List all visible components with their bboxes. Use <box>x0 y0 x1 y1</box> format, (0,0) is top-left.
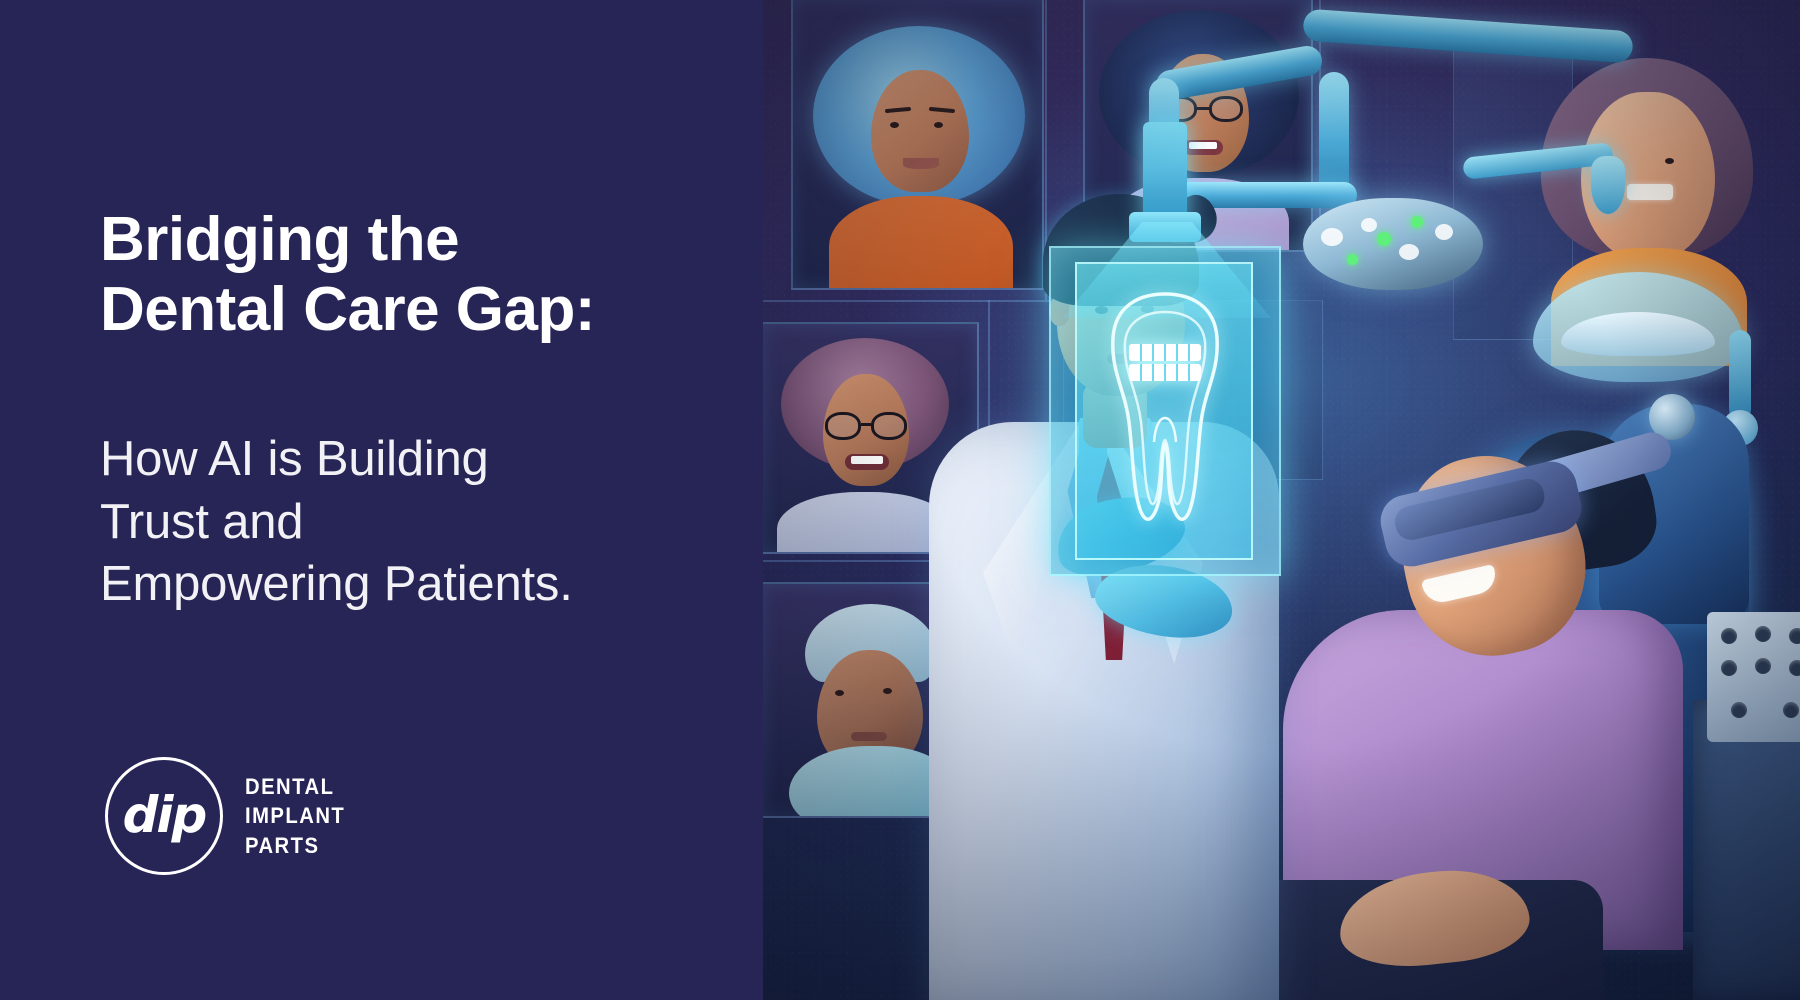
keypad-button[interactable] <box>1721 628 1737 644</box>
keypad-button[interactable] <box>1789 628 1800 644</box>
hero-illustration <box>763 0 1800 1000</box>
page-subtitle: How AI is Building Trust and Empowering … <box>100 428 740 616</box>
braces-teeth <box>1627 184 1673 200</box>
keypad-button[interactable] <box>1755 658 1771 674</box>
keypad-button[interactable] <box>1721 660 1737 676</box>
equipment-arm-pivot <box>1729 330 1751 420</box>
lamp-bulb <box>1361 218 1377 232</box>
keypad-button[interactable] <box>1783 702 1799 718</box>
tooth-icon <box>1099 286 1231 524</box>
subheadline-line-1: How AI is Building <box>100 428 740 491</box>
brand-logo[interactable]: dip DENTAL IMPLANT PARTS <box>105 757 354 875</box>
subheadline-line-2: Trust and <box>100 491 740 554</box>
teeth <box>851 456 883 464</box>
eye <box>883 688 892 694</box>
text-panel: Bridging the Dental Care Gap: How AI is … <box>0 0 763 1000</box>
glasses-icon <box>825 412 861 440</box>
page-title: Bridging the Dental Care Gap: <box>100 205 720 345</box>
lamp-indicator <box>1347 254 1358 265</box>
headline-line-2: Dental Care Gap: <box>100 275 720 345</box>
lamp-bulb <box>1399 244 1419 260</box>
logo-word-dental: DENTAL <box>245 773 345 801</box>
keypad-button[interactable] <box>1755 626 1771 642</box>
keypad-button[interactable] <box>1789 660 1800 676</box>
equipment-keypad <box>1707 612 1800 742</box>
eye <box>835 690 844 696</box>
lamp-indicator <box>1377 232 1391 246</box>
eye <box>890 122 899 128</box>
logo-word-parts: PARTS <box>245 832 345 860</box>
mouth <box>851 732 887 741</box>
equipment-cabinet <box>1693 700 1800 1000</box>
glasses-icon <box>861 423 871 426</box>
lamp-indicator <box>1411 216 1423 228</box>
eye <box>934 122 943 128</box>
logo-wordmark: dip <box>123 790 206 840</box>
eye <box>1665 158 1674 164</box>
glasses-icon <box>871 412 907 440</box>
hologram-emitter <box>1143 122 1187 226</box>
logo-circle-icon: dip <box>105 757 223 875</box>
teeth <box>1189 142 1217 149</box>
scanner-tip-icon <box>1591 156 1625 214</box>
promo-banner: Bridging the Dental Care Gap: How AI is … <box>0 0 1800 1000</box>
logo-word-implant: IMPLANT <box>245 802 345 830</box>
glasses-icon <box>1197 107 1209 110</box>
headline-line-1: Bridging the <box>100 205 720 275</box>
keypad-button[interactable] <box>1731 702 1747 718</box>
subheadline-line-3: Empowering Patients. <box>100 553 740 616</box>
glasses-icon <box>1209 96 1243 122</box>
lamp-bulb <box>1435 224 1453 240</box>
logo-company-name: DENTAL IMPLANT PARTS <box>245 773 354 860</box>
